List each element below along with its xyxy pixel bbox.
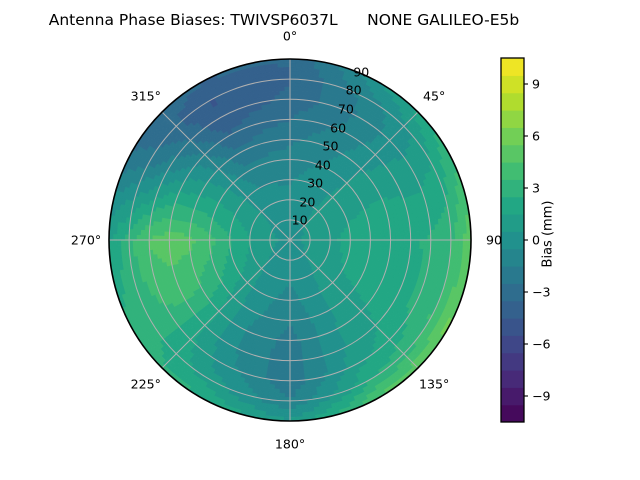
colorbar-gradient xyxy=(501,58,524,423)
theta-tick-label-315: 315° xyxy=(131,88,161,103)
radial-tick-label-50: 50 xyxy=(322,139,338,154)
page-title: Antenna Phase Biases: TWIVSP6037L NONE G… xyxy=(0,11,568,29)
theta-tick-label-180: 180° xyxy=(275,437,305,452)
theta-tick-label-270: 270° xyxy=(71,233,101,248)
colorbar-tick-label-2: 3 xyxy=(532,181,540,196)
radial-tick-label-80: 80 xyxy=(346,83,362,98)
theta-tick-label-0: 0° xyxy=(283,29,297,44)
colorbar-tick-label-5: −6 xyxy=(532,337,551,352)
colorbar-tick-label-1: 6 xyxy=(532,129,540,144)
radial-tick-label-60: 60 xyxy=(330,120,346,135)
radial-tick-label-70: 70 xyxy=(338,101,354,116)
radial-tick-label-10: 10 xyxy=(292,213,308,228)
matplotlib-figure: Antenna Phase Biases: TWIVSP6037L NONE G… xyxy=(0,0,640,480)
theta-tick-label-90: 90 xyxy=(486,233,502,248)
colorbar-tick-label-4: −3 xyxy=(532,285,551,300)
colorbar-tick-label-0: 9 xyxy=(532,77,540,92)
theta-tick-label-225: 225° xyxy=(131,377,161,392)
colorbar-tick-label-3: 0 xyxy=(532,233,540,248)
radial-tick-label-90: 90 xyxy=(353,64,369,79)
colorbar-tick-label-6: −9 xyxy=(532,389,551,404)
radial-tick-label-30: 30 xyxy=(307,176,323,191)
polar-grid xyxy=(109,59,471,421)
colorbar-axis-label: Bias (mm) xyxy=(541,201,556,268)
radial-tick-label-20: 20 xyxy=(299,194,315,209)
radial-tick-label-40: 40 xyxy=(315,157,331,172)
theta-tick-label-45: 45° xyxy=(423,88,445,103)
theta-tick-label-135: 135° xyxy=(419,377,449,392)
